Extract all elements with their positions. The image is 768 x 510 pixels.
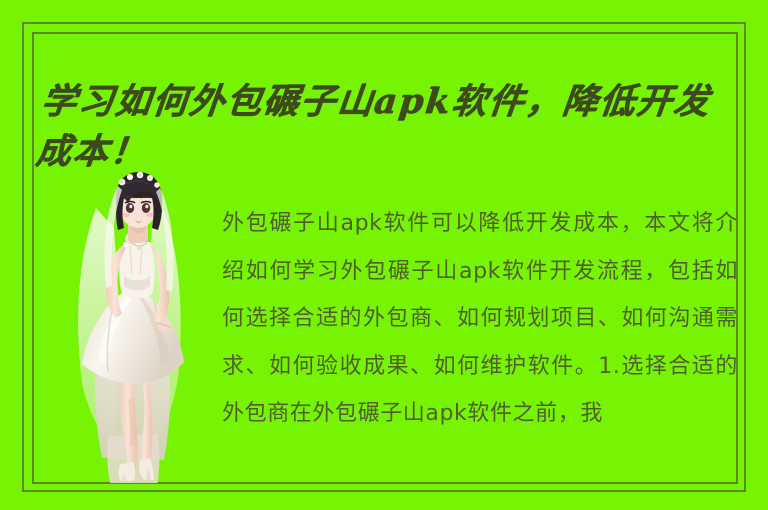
anime-girl-illustration	[68, 168, 198, 483]
article-body: 外包碾子山apk软件可以降低开发成本，本文将介绍如何学习外包碾子山apk软件开发…	[222, 200, 738, 438]
article-card: 学习如何外包碾子山apk软件，降低开发成本！	[0, 0, 768, 510]
page-title: 学习如何外包碾子山apk软件，降低开发成本！	[33, 77, 734, 177]
